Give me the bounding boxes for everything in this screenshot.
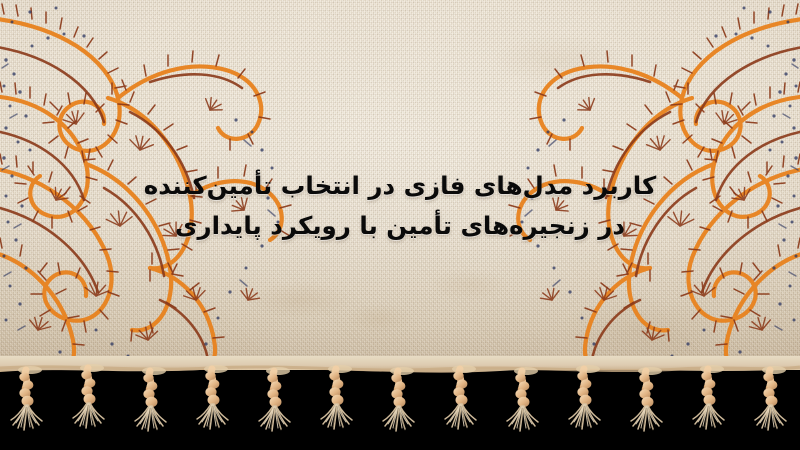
slide-title: کاربرد مدل‌های فازی در انتخاب تأمین‌کنند…: [0, 166, 800, 246]
title-line-2: در زنجیره‌های تأمین با رویکرد پایداری: [0, 206, 800, 246]
black-backdrop: [0, 370, 800, 450]
title-slide: کاربرد مدل‌های فازی در انتخاب تأمین‌کنند…: [0, 0, 800, 450]
title-line-1: کاربرد مدل‌های فازی در انتخاب تأمین‌کنند…: [0, 166, 800, 206]
